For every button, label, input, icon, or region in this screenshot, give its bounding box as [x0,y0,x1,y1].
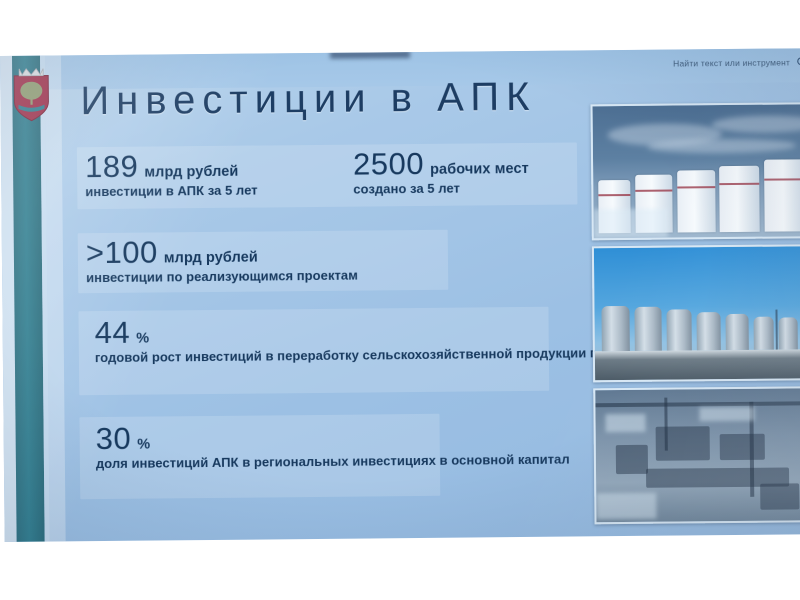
stat-value: 44 [95,317,131,348]
stat-caption: инвестиции по реализующимся проектам [86,268,358,286]
photo-factory-line [593,386,800,524]
stat-unit: % [137,437,150,453]
stat-jobs-created: 2500 рабочих мест создано за 5 лет [353,147,529,197]
photographed-screen: Найти текст или инструмент [0,0,800,600]
page-title: Инвестиции в АПК [80,75,536,124]
stat-unit: % [136,331,149,347]
monitor-display-area: Найти текст или инструмент [0,48,800,542]
stat-value: 2500 [353,148,424,180]
stat-value: 30 [96,423,132,454]
stat-unit: млрд рублей [144,164,238,181]
stat-caption: инвестиции в АПК за 5 лет [85,183,257,200]
stat-caption: доля инвестиций АПК в региональных инвес… [96,452,570,472]
stat-value: >100 [86,236,158,268]
stat-caption: создано за 5 лет [353,180,529,197]
stat-value: 189 [85,151,139,183]
stat-ongoing-projects: >100 млрд рублей инвестиции по реализующ… [86,235,358,286]
stat-share-of-capital: 30 % доля инвестиций АПК в региональных … [96,419,570,472]
coat-of-arms [10,64,53,122]
photo-storage-tanks [590,102,800,240]
photo-column [590,102,800,524]
stat-unit: рабочих мест [430,161,529,178]
photo-grain-silos [592,244,800,382]
stat-unit: млрд рублей [164,250,258,267]
presentation-slide: Инвестиции в АПК 189 млрд рублей инвести… [62,48,800,541]
stat-investments-total: 189 млрд рублей инвестиции в АПК за 5 ле… [85,150,258,200]
